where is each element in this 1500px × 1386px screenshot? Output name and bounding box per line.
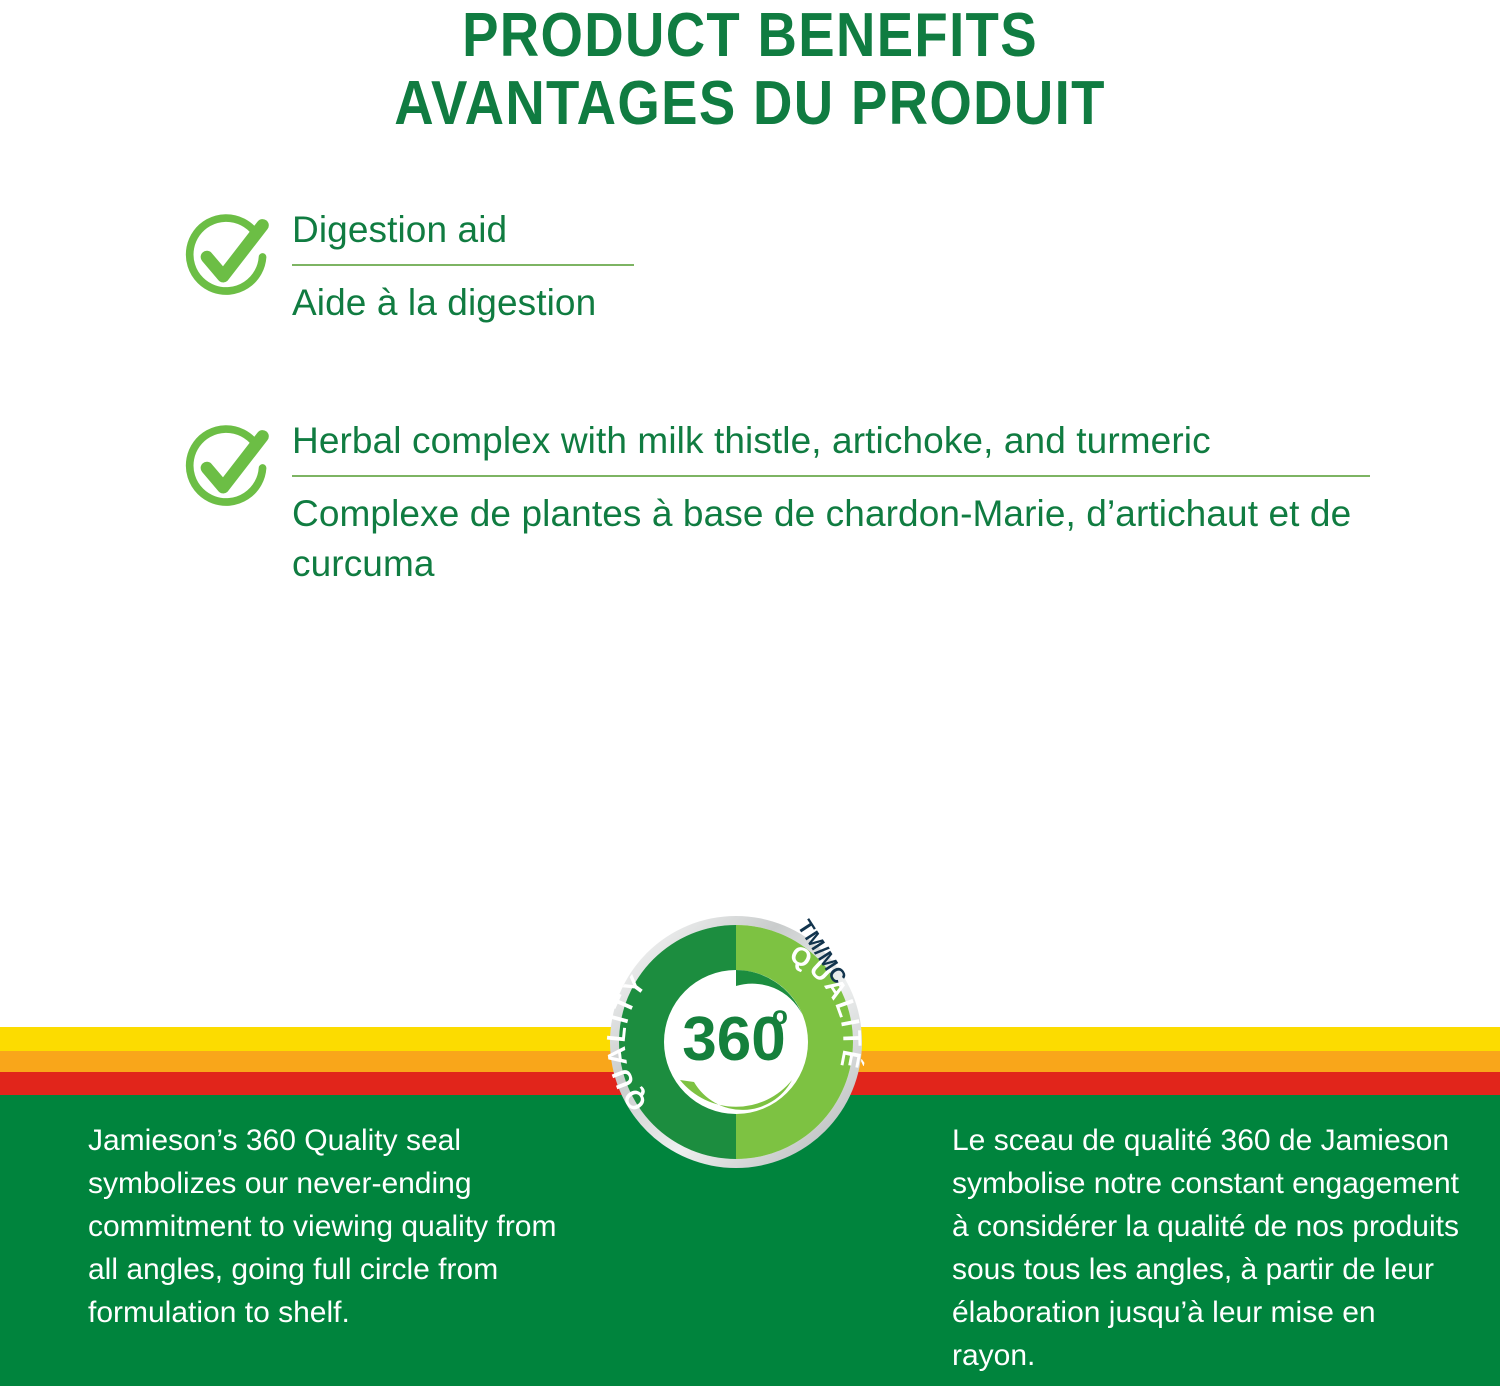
benefit-divider [292, 264, 634, 266]
benefit-label-fr: Aide à la digestion [292, 278, 1382, 328]
benefit-text-block: Herbal complex with milk thistle, artich… [292, 416, 1382, 589]
benefit-item: Herbal complex with milk thistle, artich… [0, 416, 1500, 589]
benefit-divider [292, 475, 1370, 477]
benefit-item: Digestion aid Aide à la digestion [0, 205, 1500, 328]
benefit-label-fr: Complexe de plantes à base de chardon-Ma… [292, 489, 1382, 589]
benefit-label-en: Herbal complex with milk thistle, artich… [292, 418, 1382, 464]
benefit-label-en: Digestion aid [292, 207, 1382, 253]
product-benefits-panel: PRODUCT BENEFITS AVANTAGES DU PRODUIT Di… [0, 0, 1500, 1386]
panel-text-en: Jamieson’s 360 Quality seal symbolizes o… [88, 1119, 588, 1334]
title-line-en: PRODUCT BENEFITS [90, 2, 1410, 70]
check-icon-wrap [180, 416, 292, 516]
title-line-fr: AVANTAGES DU PRODUIT [90, 70, 1410, 138]
seal-degree-symbol: o [772, 1000, 788, 1030]
benefits-list: Digestion aid Aide à la digestion Herbal… [0, 205, 1500, 677]
seal-center-number: 360 [682, 1005, 785, 1074]
green-check-circle-icon [180, 420, 276, 516]
check-icon-wrap [180, 205, 292, 305]
page-title: PRODUCT BENEFITS AVANTAGES DU PRODUIT [0, 2, 1500, 138]
green-check-circle-icon [180, 209, 276, 305]
panel-text-fr: Le sceau de qualité 360 de Jamieson symb… [952, 1119, 1462, 1377]
benefit-text-block: Digestion aid Aide à la digestion [292, 205, 1382, 328]
